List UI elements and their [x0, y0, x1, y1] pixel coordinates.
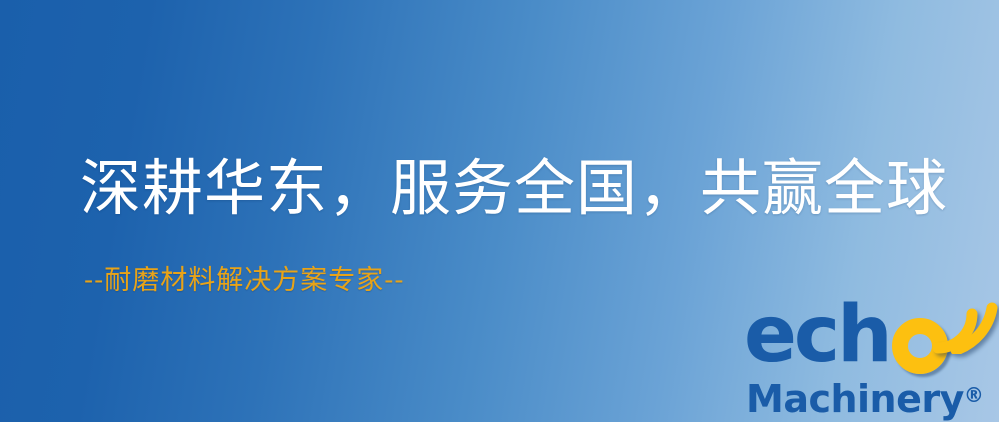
logo-subtext-label: Machinery — [746, 377, 964, 421]
signal-waves-svg — [930, 292, 999, 354]
signal-waves-icon — [930, 292, 999, 354]
logo-subtext: Machinery® — [746, 374, 984, 420]
company-logo: ech Machinery® — [744, 296, 996, 420]
logo-wordmark-ech: ech — [744, 296, 890, 374]
registered-trademark-icon: ® — [964, 383, 984, 407]
banner-subtitle: --耐磨材料解决方案专家-- — [84, 264, 405, 298]
banner-headline: 深耕华东，服务全国，共赢全球 — [80, 152, 960, 226]
promo-banner: 深耕华东，服务全国，共赢全球 --耐磨材料解决方案专家-- ech Machin… — [0, 0, 999, 422]
